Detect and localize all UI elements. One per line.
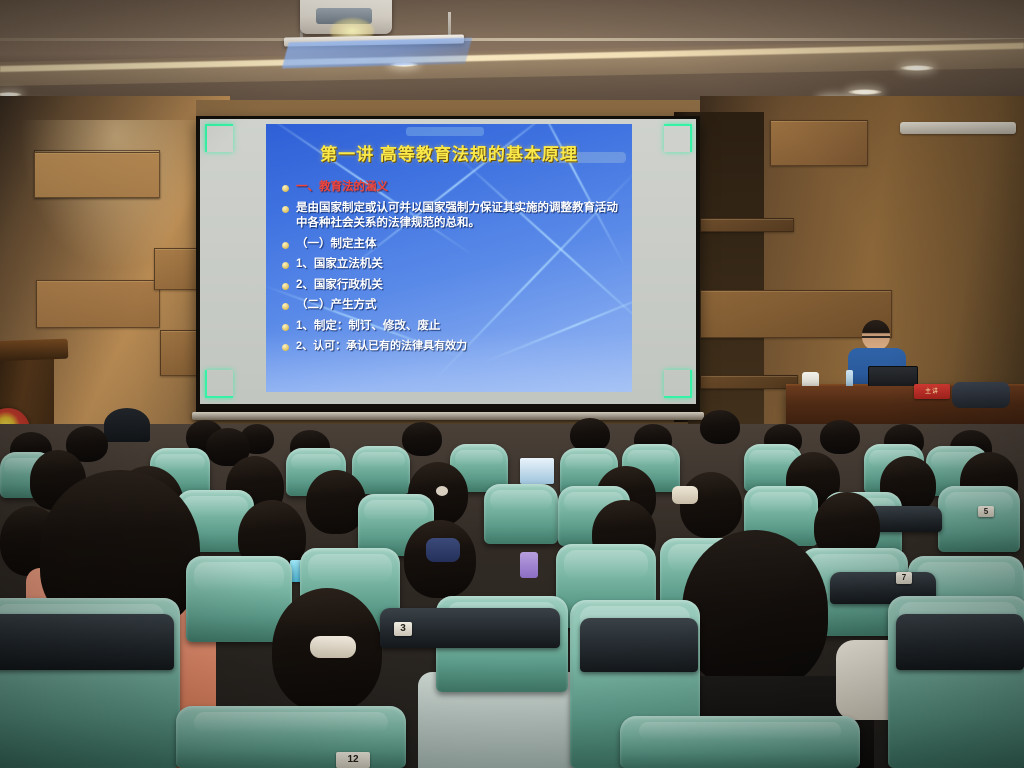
slide-bullet-text: 1、制定：制订、修改、废止 (296, 319, 440, 335)
ceiling-downlight (900, 65, 934, 71)
side-chair (952, 382, 1010, 408)
wall-panel (34, 152, 160, 198)
bullet-dot-icon (282, 283, 289, 290)
seat[interactable] (620, 716, 860, 768)
seat-headrest (0, 614, 174, 670)
audience-phone[interactable] (520, 552, 538, 578)
bullet-dot-icon (282, 344, 289, 351)
bullet-dot-icon (282, 242, 289, 249)
scrunchie-icon (426, 538, 460, 562)
seat-headrest (580, 618, 698, 672)
slide-bullet-text: 2、认可：承认已有的法律具有效力 (296, 339, 467, 354)
audience-head (306, 470, 366, 534)
slide-bullet-item: （二）产生方式 (282, 298, 620, 314)
audience-head (402, 422, 442, 456)
slide-bullet-text: 1、国家立法机关 (296, 257, 383, 273)
screen-alignment-corner-icon (205, 370, 233, 398)
wall-panel (770, 120, 868, 166)
projector-beam (282, 38, 472, 69)
bullet-dot-icon (282, 262, 289, 269)
bullet-dot-icon (282, 206, 289, 213)
seat-number-label: 12 (336, 752, 370, 768)
slide-bullet-list: 一、教育法的涵义 是由国家制定或认可并以国家强制力保证其实施的调整教育活动中各种… (282, 180, 620, 359)
slide-watermark-top (406, 127, 484, 136)
wall-panel (36, 280, 160, 328)
slide-bullet-item: 2、国家行政机关 (282, 278, 620, 294)
audience-head (680, 472, 742, 538)
seat[interactable] (176, 706, 406, 768)
slide-bullet-item: 一、教育法的涵义 (282, 180, 620, 196)
bullet-dot-icon (282, 185, 289, 192)
slide-bullet-text: 2、国家行政机关 (296, 278, 383, 294)
hair-clip-icon (436, 486, 448, 496)
podium-top (0, 339, 68, 362)
audience-head (682, 530, 828, 690)
screen-alignment-corner-icon (205, 124, 233, 152)
bullet-dot-icon (282, 303, 289, 310)
hair-clip-icon (672, 486, 698, 504)
audience-head (820, 420, 860, 454)
slide-bullet-text: （一）制定主体 (296, 237, 377, 253)
slide-title: 第一讲 高等教育法规的基本原理 (266, 140, 632, 165)
wall-panel (700, 375, 798, 389)
wall-sign-strip (900, 122, 1016, 134)
seat-number-label: 7 (896, 572, 912, 584)
seat[interactable] (938, 486, 1020, 552)
lecturer-head (862, 320, 890, 350)
screen-alignment-corner-icon (664, 124, 692, 152)
slide-bullet-item: 1、制定：制订、修改、废止 (282, 319, 620, 335)
screen-bottom-bar (192, 412, 704, 420)
seat-headrest (896, 614, 1024, 670)
nameplate-text: 主讲 (914, 386, 950, 395)
presentation-slide: 第一讲 高等教育法规的基本原理 一、教育法的涵义 是由国家制定或认可并以国家强制… (266, 124, 632, 392)
ceiling-downlight (848, 89, 882, 95)
slide-bullet-item: （一）制定主体 (282, 237, 620, 253)
wall-panel (700, 218, 794, 232)
slide-bullet-text: 一、教育法的涵义 (296, 180, 388, 196)
ceiling-seam (0, 38, 1024, 41)
audience-laptop[interactable] (520, 458, 554, 484)
lecture-hall-photo: 第一讲 高等教育法规的基本原理 一、教育法的涵义 是由国家制定或认可并以国家强制… (0, 0, 1024, 768)
baseball-cap-icon (104, 408, 150, 442)
slide-bullet-text: （二）产生方式 (296, 298, 377, 314)
seat-number-label: 3 (394, 622, 412, 636)
audience-head (570, 418, 610, 452)
seat-number-label: 5 (978, 506, 994, 517)
slide-bullet-item: 2、认可：承认已有的法律具有效力 (282, 339, 620, 354)
slide-bullet-text: 是由国家制定或认可并以国家强制力保证其实施的调整教育活动中各种社会关系的法律规范… (296, 201, 620, 232)
audience-head (700, 410, 740, 444)
glasses-icon (862, 336, 890, 344)
seat[interactable] (484, 484, 558, 544)
hair-pearl-clip-icon (310, 636, 356, 658)
slide-bullet-item: 是由国家制定或认可并以国家强制力保证其实施的调整教育活动中各种社会关系的法律规范… (282, 201, 620, 232)
bullet-dot-icon (282, 324, 289, 331)
screen-alignment-corner-icon (664, 370, 692, 398)
slide-bullet-item: 1、国家立法机关 (282, 257, 620, 273)
